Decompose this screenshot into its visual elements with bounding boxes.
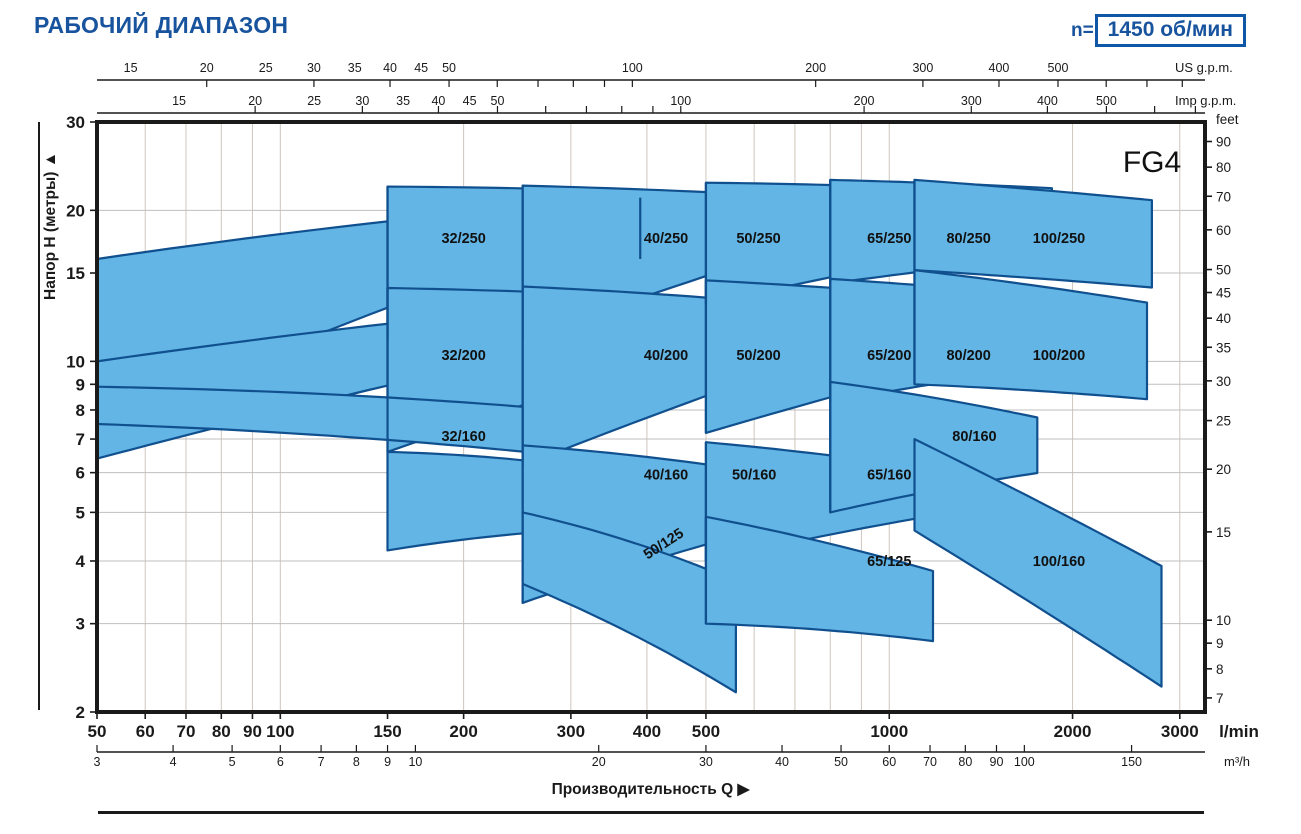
- model-label-80-160: 80/160: [952, 429, 996, 445]
- model-label-40-250: 40/250: [644, 231, 688, 247]
- feet-axis-label-35: 35: [1216, 340, 1231, 355]
- usgpm-axis-label-35: 35: [348, 61, 362, 75]
- model-label-65-125: 65/125: [867, 554, 911, 570]
- feet-axis-label-9: 9: [1216, 636, 1224, 651]
- model-label-100-160: 100/160: [1033, 554, 1085, 570]
- m3h-axis-label-6: 6: [277, 755, 284, 769]
- usgpm-axis-label-40: 40: [383, 61, 397, 75]
- y-axis-label-7: 7: [76, 430, 85, 449]
- impgpm-axis-label-50: 50: [491, 94, 505, 108]
- usgpm-axis-label-15: 15: [124, 61, 138, 75]
- m3h-axis-label-150: 150: [1121, 755, 1142, 769]
- model-label-32-160: 32/160: [441, 429, 485, 445]
- m3h-axis-label-10: 10: [408, 755, 422, 769]
- usgpm-axis-label-50: 50: [442, 61, 456, 75]
- m3h-axis-label-40: 40: [775, 755, 789, 769]
- feet-axis-label-8: 8: [1216, 662, 1224, 677]
- feet-axis-label-50: 50: [1216, 263, 1231, 278]
- m3h-axis-label-7: 7: [318, 755, 325, 769]
- m3h-axis-label-20: 20: [592, 755, 606, 769]
- y-axis-label-8: 8: [76, 401, 85, 420]
- model-label-65-250: 65/250: [867, 231, 911, 247]
- performance-chart: 32/25032/20032/16040/25040/20040/16050/2…: [0, 0, 1301, 834]
- model-label-50-250: 50/250: [736, 231, 780, 247]
- x-axis-label-200: 200: [449, 722, 477, 741]
- x-axis-label-50: 50: [88, 722, 107, 741]
- m3h-axis-label-9: 9: [384, 755, 391, 769]
- x-axis-label-2000: 2000: [1054, 722, 1092, 741]
- impgpm-axis-label-40: 40: [431, 94, 445, 108]
- impgpm-axis-label-400: 400: [1037, 94, 1058, 108]
- model-label-40-200: 40/200: [644, 348, 688, 364]
- impgpm-axis-label-30: 30: [355, 94, 369, 108]
- x-axis-label-90: 90: [243, 722, 262, 741]
- chart-canvas: 32/25032/20032/16040/25040/20040/16050/2…: [0, 0, 1301, 834]
- m3h-axis-label-60: 60: [882, 755, 896, 769]
- usgpm-axis-label-200: 200: [805, 61, 826, 75]
- feet-axis-label-10: 10: [1216, 613, 1231, 628]
- m3h-unit-label: m³/h: [1224, 754, 1250, 769]
- feet-axis-label-60: 60: [1216, 223, 1231, 238]
- model-label-65-200: 65/200: [867, 348, 911, 364]
- feet-unit-label: feet: [1216, 112, 1239, 127]
- feet-axis-label-15: 15: [1216, 525, 1231, 540]
- feet-axis-label-7: 7: [1216, 691, 1224, 706]
- impgpm-axis-label-200: 200: [854, 94, 875, 108]
- usgpm-unit-label: US g.p.m.: [1175, 60, 1233, 75]
- impgpm-axis-label-20: 20: [248, 94, 262, 108]
- m3h-axis-label-8: 8: [353, 755, 360, 769]
- impgpm-axis-label-35: 35: [396, 94, 410, 108]
- usgpm-axis-label-45: 45: [414, 61, 428, 75]
- feet-axis-label-45: 45: [1216, 286, 1231, 301]
- model-label-80-200: 80/200: [946, 348, 990, 364]
- x-axis-label-60: 60: [136, 722, 155, 741]
- chart-series-title: FG4: [1123, 146, 1181, 179]
- model-label-50-200: 50/200: [736, 348, 780, 364]
- y-axis-label-15: 15: [66, 264, 85, 283]
- m3h-axis-label-30: 30: [699, 755, 713, 769]
- usgpm-axis-label-25: 25: [259, 61, 273, 75]
- usgpm-axis-label-30: 30: [307, 61, 321, 75]
- feet-axis-label-40: 40: [1216, 311, 1231, 326]
- usgpm-axis-label-300: 300: [912, 61, 933, 75]
- y-axis-label-5: 5: [76, 503, 85, 522]
- impgpm-axis-label-300: 300: [961, 94, 982, 108]
- x-axis-label-150: 150: [373, 722, 401, 741]
- m3h-axis-label-90: 90: [990, 755, 1004, 769]
- usgpm-axis-label-400: 400: [989, 61, 1010, 75]
- x-axis-label-400: 400: [633, 722, 661, 741]
- x-axis-label-3000: 3000: [1161, 722, 1199, 741]
- usgpm-axis-label-20: 20: [200, 61, 214, 75]
- m3h-axis-label-3: 3: [94, 755, 101, 769]
- feet-axis-label-25: 25: [1216, 414, 1231, 429]
- m3h-axis-label-50: 50: [834, 755, 848, 769]
- x-axis-label-300: 300: [557, 722, 585, 741]
- x-axis-label-500: 500: [692, 722, 720, 741]
- model-label-100-250: 100/250: [1033, 231, 1085, 247]
- y-axis-label-10: 10: [66, 352, 85, 371]
- feet-axis-label-30: 30: [1216, 374, 1231, 389]
- impgpm-axis-label-500: 500: [1096, 94, 1117, 108]
- x-axis-label-1000: 1000: [870, 722, 908, 741]
- x-axis-label-100: 100: [266, 722, 294, 741]
- impgpm-axis-label-100: 100: [670, 94, 691, 108]
- y-axis-label-20: 20: [66, 201, 85, 220]
- model-label-32-250: 32/250: [441, 231, 485, 247]
- y-axis-label-9: 9: [76, 375, 85, 394]
- x-axis-label-80: 80: [212, 722, 231, 741]
- y-axis-label-30: 30: [66, 113, 85, 132]
- feet-axis-label-70: 70: [1216, 189, 1231, 204]
- impgpm-axis-label-25: 25: [307, 94, 321, 108]
- impgpm-axis-label-15: 15: [172, 94, 186, 108]
- feet-axis-label-80: 80: [1216, 160, 1231, 175]
- model-label-80-250: 80/250: [946, 231, 990, 247]
- x-axis-label-70: 70: [177, 722, 196, 741]
- model-label-50-160: 50/160: [732, 467, 776, 483]
- m3h-axis-label-100: 100: [1014, 755, 1035, 769]
- feet-axis-label-90: 90: [1216, 134, 1231, 149]
- y-axis-label-6: 6: [76, 464, 85, 483]
- model-label-40-160: 40/160: [644, 467, 688, 483]
- impgpm-axis-label-45: 45: [463, 94, 477, 108]
- impgpm-unit-label: Imp g.p.m.: [1175, 93, 1236, 108]
- band-200f: [915, 270, 1148, 399]
- model-label-32-200: 32/200: [441, 348, 485, 364]
- feet-axis-label-20: 20: [1216, 462, 1231, 477]
- lmin-unit-label: l/min: [1219, 722, 1259, 741]
- y-axis-label-4: 4: [76, 552, 86, 571]
- m3h-axis-label-70: 70: [923, 755, 937, 769]
- m3h-axis-label-80: 80: [958, 755, 972, 769]
- model-label-65-160: 65/160: [867, 467, 911, 483]
- y-axis-label-3: 3: [76, 615, 85, 634]
- m3h-axis-label-4: 4: [170, 755, 177, 769]
- model-label-100-200: 100/200: [1033, 348, 1085, 364]
- usgpm-axis-label-500: 500: [1048, 61, 1069, 75]
- m3h-axis-label-5: 5: [229, 755, 236, 769]
- y-axis-label-2: 2: [76, 703, 85, 722]
- usgpm-axis-label-100: 100: [622, 61, 643, 75]
